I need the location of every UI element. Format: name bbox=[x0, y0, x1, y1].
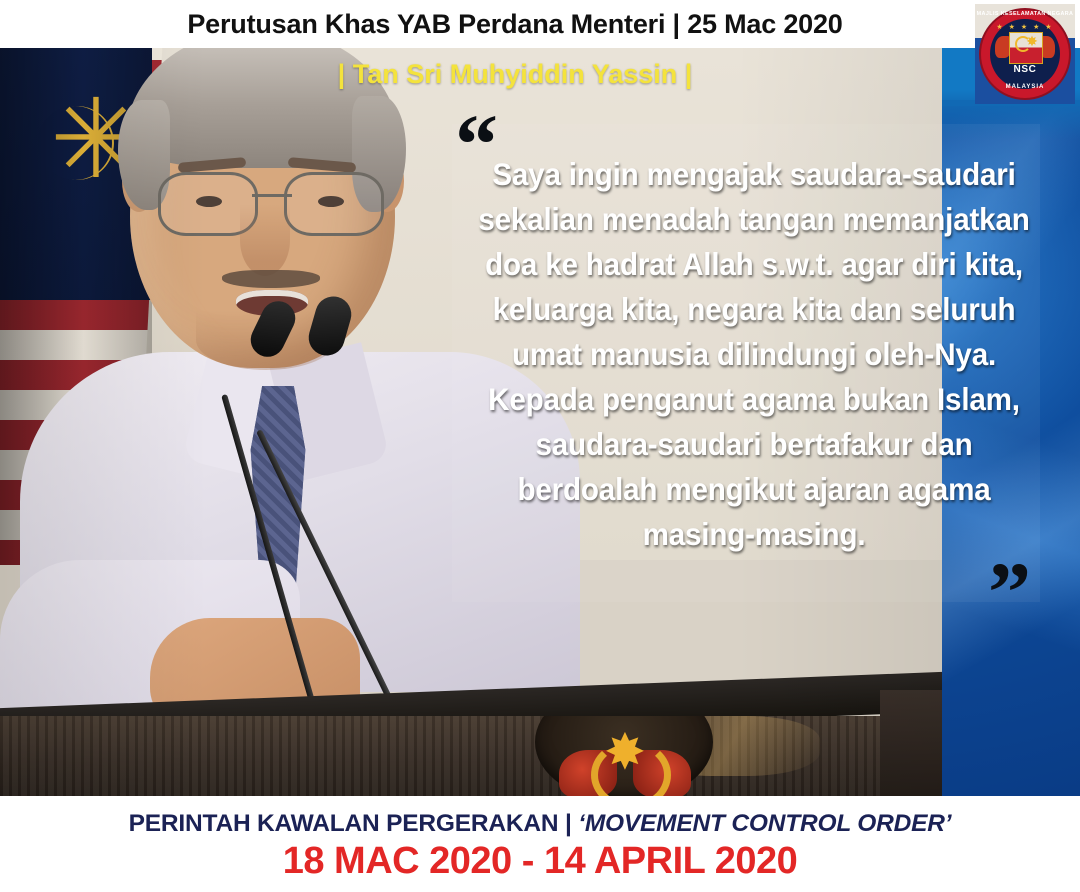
quote-line: umat manusia dilindungi oleh-Nya. bbox=[463, 332, 1046, 377]
speaker-name-subtitle: | Tan Sri Muhyiddin Yassin | bbox=[0, 54, 1030, 94]
nsc-logo: MAJLIS KESELAMATAN NEGARA ★ ★ ★ ★ ★ ✸ NS… bbox=[975, 4, 1075, 104]
quote-line: keluarga kita, negara kita dan seluruh bbox=[463, 287, 1046, 332]
quote-line: Kepada penganut agama bukan Islam, bbox=[463, 377, 1046, 422]
logo-star-icon: ✸ bbox=[1025, 34, 1039, 48]
quote-line: Saya ingin mengajak saudara-saudari bbox=[463, 152, 1046, 197]
quote-line: berdoalah mengikut ajaran agama bbox=[463, 467, 1046, 512]
footer-order-title-english: ‘MOVEMENT CONTROL ORDER’ bbox=[578, 810, 951, 837]
logo-stars-icon: ★ ★ ★ ★ ★ bbox=[975, 23, 1075, 31]
footer-order-title-malay: PERINTAH KAWALAN PERGERAKAN | bbox=[129, 810, 579, 837]
logo-top-label: MAJLIS KESELAMATAN NEGARA bbox=[975, 11, 1075, 17]
quote-line: sekalian menadah tangan memanjatkan bbox=[463, 197, 1046, 242]
logo-center-label: NSC bbox=[975, 64, 1075, 75]
footer-order-title: PERINTAH KAWALAN PERGERAKAN | ‘MOVEMENT … bbox=[0, 810, 1080, 838]
quote-line: masing-masing. bbox=[463, 512, 1046, 557]
quote-text: Saya ingin mengajak saudara-saudari seka… bbox=[463, 152, 1046, 557]
footer-date-range: 18 MAC 2020 - 14 APRIL 2020 bbox=[0, 840, 1080, 883]
quote-line: saudara-saudari bertafakur dan bbox=[463, 422, 1046, 467]
quote-close-mark-icon: ” bbox=[988, 560, 1029, 624]
poster-canvas: ✳ bbox=[0, 0, 1080, 892]
logo-bottom-label: MALAYSIA bbox=[975, 84, 1075, 90]
page-title: Perutusan Khas YAB Perdana Menteri | 25 … bbox=[0, 4, 1030, 44]
quote-line: doa ke hadrat Allah s.w.t. agar diri kit… bbox=[463, 242, 1046, 287]
